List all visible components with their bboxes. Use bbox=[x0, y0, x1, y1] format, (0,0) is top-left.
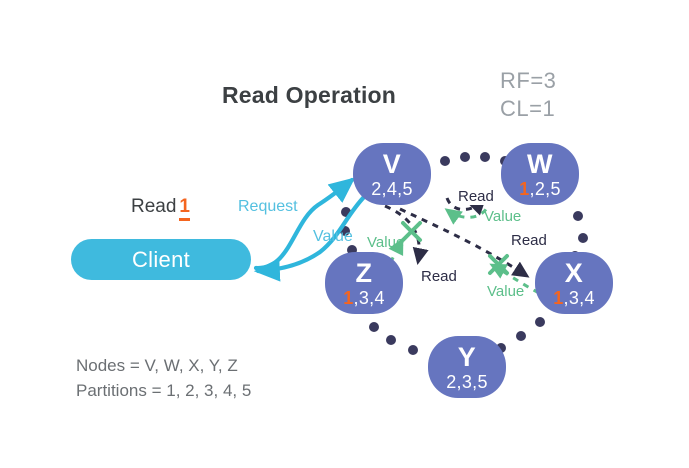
client-node[interactable]: Client bbox=[71, 239, 251, 280]
ring-node-w-hot-partition: 1 bbox=[519, 179, 529, 199]
ring-node-y-id: Y bbox=[458, 344, 477, 371]
legend-partitions-line: Partitions = 1, 2, 3, 4, 5 bbox=[76, 378, 251, 403]
read-request-key: 1 bbox=[179, 196, 190, 221]
read-request-prefix: Read bbox=[131, 196, 176, 217]
edge-label-read-v-w: Read bbox=[456, 188, 496, 205]
ring-node-v-rest-partitions: 2,4,5 bbox=[371, 179, 413, 199]
page-title: Read Operation bbox=[222, 82, 396, 109]
ring-node-v-partitions: 2,4,5 bbox=[371, 180, 413, 198]
ring-node-z-rest-partitions: ,3,4 bbox=[354, 288, 385, 308]
ring-node-y[interactable]: Y 2,3,5 bbox=[428, 336, 506, 398]
ring-node-z[interactable]: Z 1,3,4 bbox=[325, 252, 403, 314]
edge-label-read-v-x: Read bbox=[511, 232, 547, 249]
replication-factor-label: RF=3 bbox=[500, 68, 556, 94]
ring-node-w-id: W bbox=[527, 151, 553, 178]
ring-node-v-id: V bbox=[383, 151, 402, 178]
ring-node-z-hot-partition: 1 bbox=[343, 288, 353, 308]
ring-node-y-partitions: 2,3,5 bbox=[446, 373, 488, 391]
ring-node-x-partitions: 1,3,4 bbox=[553, 289, 595, 307]
ring-node-x[interactable]: X 1,3,4 bbox=[535, 252, 613, 314]
edge-label-value-w-v: Value bbox=[484, 208, 521, 225]
ring-node-y-rest-partitions: 2,3,5 bbox=[446, 372, 488, 392]
edge-label-value-client: Value bbox=[313, 228, 353, 246]
blocked-x-z bbox=[403, 223, 420, 240]
ring-node-z-partitions: 1,3,4 bbox=[343, 289, 385, 307]
edge-label-value-z-v: Value bbox=[367, 234, 404, 251]
ring-node-x-hot-partition: 1 bbox=[553, 288, 563, 308]
edge-label-read-v-z: Read bbox=[421, 268, 457, 285]
ring-node-v[interactable]: V 2,4,5 bbox=[353, 143, 431, 205]
ring-node-x-rest-partitions: ,3,4 bbox=[564, 288, 595, 308]
ring-node-w[interactable]: W 1,2,5 bbox=[501, 143, 579, 205]
ring-node-z-id: Z bbox=[356, 260, 373, 287]
request-arrow bbox=[256, 180, 352, 268]
ring-node-w-partitions: 1,2,5 bbox=[519, 180, 561, 198]
ring-node-w-rest-partitions: ,2,5 bbox=[530, 179, 561, 199]
diagram-canvas: Read Operation RF=3 CL=1 Read1 Client V … bbox=[0, 0, 689, 468]
ring-node-x-id: X bbox=[565, 260, 584, 287]
edge-label-value-x-v: Value bbox=[487, 283, 524, 300]
consistency-level-label: CL=1 bbox=[500, 96, 555, 122]
read-request-label: Read1 bbox=[131, 196, 190, 218]
legend: Nodes = V, W, X, Y, Z Partitions = 1, 2,… bbox=[76, 353, 251, 403]
legend-nodes-line: Nodes = V, W, X, Y, Z bbox=[76, 353, 251, 378]
client-label: Client bbox=[132, 247, 190, 273]
edge-label-request: Request bbox=[238, 198, 298, 216]
